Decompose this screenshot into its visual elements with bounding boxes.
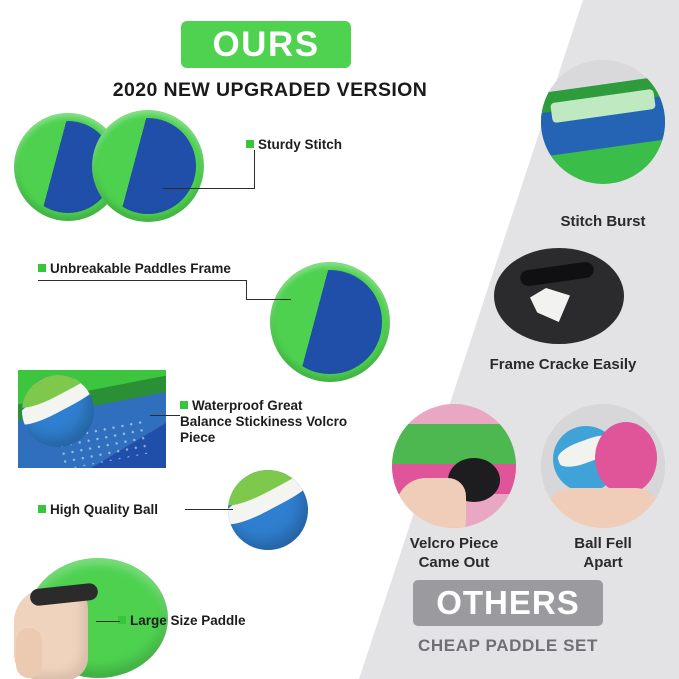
label-text-line1: Waterproof Great [192, 398, 303, 413]
caption-line1: Ball Fell [574, 535, 632, 552]
bullet-icon [118, 616, 126, 624]
leader-line-frame-horizontal [246, 299, 291, 300]
bullet-icon [180, 401, 188, 409]
paddle-rim [270, 262, 390, 382]
label-text: Sturdy Stitch [258, 137, 342, 152]
others-label: OTHERS [436, 584, 580, 622]
photo-velcro-came-out [392, 404, 516, 528]
caption-frame-cracke-easily: Frame Cracke Easily [468, 355, 658, 374]
comparison-infographic: OURS 2020 NEW UPGRADED VERSION Sturdy St… [0, 0, 679, 679]
leader-line-sturdy-stitch [163, 188, 255, 189]
caption-line2: Came Out [419, 554, 490, 571]
leader-line-frame-left [38, 280, 246, 281]
label-text-line2: Balance Stickiness Volcro Piece [180, 414, 347, 445]
label-sturdy-stitch: Sturdy Stitch [246, 137, 342, 152]
photo-stitch-burst [541, 60, 665, 184]
ours-badge: OURS [181, 21, 351, 68]
caption-velcro-came-out: Velcro Piece Came Out [379, 534, 529, 572]
leader-line-large-paddle [96, 621, 120, 622]
photo-frame-crack [494, 248, 624, 344]
leader-line-velcro [150, 415, 180, 416]
bullet-icon [38, 264, 46, 272]
caption-line2: Apart [583, 554, 622, 571]
label-unbreakable-frame: Unbreakable Paddles Frame [38, 261, 231, 276]
label-large-size-paddle: Large Size Paddle [118, 613, 246, 628]
caption-stitch-burst: Stitch Burst [528, 212, 678, 231]
caption-line1: Velcro Piece [410, 535, 498, 552]
leader-line-sturdy-stitch-vertical [254, 150, 255, 189]
caption-ball-fell-apart: Ball Fell Apart [528, 534, 678, 572]
label-text: High Quality Ball [50, 502, 158, 517]
photo-inner [392, 404, 516, 528]
paddle-top-right [92, 110, 204, 222]
ball-on-velcro [22, 375, 94, 447]
others-badge: OTHERS [413, 580, 603, 626]
ours-subtitle: 2020 NEW UPGRADED VERSION [100, 79, 440, 102]
photo-inner [541, 60, 665, 184]
others-subtitle: CHEAP PADDLE SET [393, 636, 623, 656]
photo-inner [541, 404, 665, 528]
paddle-rim [92, 110, 204, 222]
label-text: Unbreakable Paddles Frame [50, 261, 231, 276]
bullet-icon [38, 505, 46, 513]
label-high-quality-ball: High Quality Ball [38, 502, 158, 517]
leader-line-ball [185, 509, 233, 510]
photo-inner [494, 248, 624, 344]
paddle-middle [270, 262, 390, 382]
leader-line-frame-vertical [246, 280, 247, 300]
ours-label: OURS [212, 25, 319, 65]
label-waterproof-velcro: Waterproof Great Balance Stickiness Volc… [180, 398, 365, 446]
ball-high-quality [228, 470, 308, 550]
label-text: Large Size Paddle [130, 613, 246, 628]
photo-ball-fell-apart [541, 404, 665, 528]
bullet-icon [246, 140, 254, 148]
